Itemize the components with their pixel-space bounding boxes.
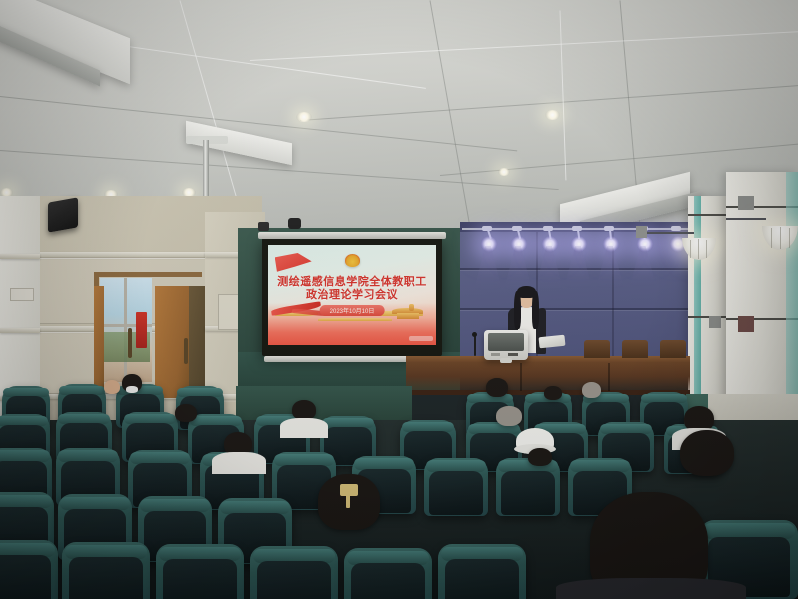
podium-monitor [484,330,528,360]
photo-scene: 测绘遥感信息学院全体教职工 政治理论学习会议 2023年10月10日 [0,0,798,599]
screen-roller-housing [258,232,446,239]
slide-watermark [409,336,433,341]
seated-attendee [486,378,508,397]
stage-desk-panel-seam [608,363,610,391]
slide-title-line2: 政治理论学习会议 [268,289,436,302]
hair-clip-pin [346,494,350,508]
seated-attendee [175,404,197,422]
slide-emblem-icon [345,254,360,267]
sconce-arm-bracket [636,226,647,238]
monitor-logo [508,353,518,356]
auditorium-seat[interactable] [156,544,244,599]
seated-attendee [292,400,316,420]
presenter-hair-right [532,291,539,329]
slide-date-badge: 2023年10月10日 [320,305,385,316]
monitor-button[interactable] [491,353,500,356]
auditorium-seat[interactable] [0,540,58,599]
presentation-slide: 测绘遥感信息学院全体教职工 政治理论学习会议 2023年10月10日 [268,245,436,345]
auditorium-seat[interactable] [496,458,560,516]
seated-attendee [680,430,734,476]
slide-flag-graphic [275,253,312,275]
sconce-arm [646,232,694,234]
sconce-arm-right [726,218,766,220]
door-handle[interactable] [128,328,132,358]
auditorium-seat[interactable] [344,548,432,599]
projection-screen: 测绘遥感信息学院全体教职工 政治理论学习会议 2023年10月10日 [262,238,442,356]
auditorium-seat[interactable] [424,458,488,516]
seated-attendee [104,380,120,394]
auditorium-seat[interactable] [438,544,526,599]
stage-desk-panel-seam [520,363,522,391]
door-handle-secondary[interactable] [184,338,188,364]
microphone-head [472,332,477,337]
seated-attendee [544,386,562,400]
ceiling-camera [258,222,269,231]
attendee-shoulders [212,452,266,474]
podium-microphone [474,336,476,356]
ceiling-camera-secondary [288,218,301,229]
monitor-stand [500,358,512,363]
attendee-shoulders-foreground [556,578,746,599]
stage-chair [660,340,686,358]
pillar-plate [709,316,721,328]
pillar-accent-square [738,196,754,210]
attendee-shoulders [280,418,328,438]
stage-chair [622,340,648,358]
pillar-accent-square-brown [738,316,754,332]
auditorium-seat[interactable] [250,546,338,599]
wall-notice-plate [10,288,34,301]
ceiling-downlight [498,168,510,176]
presenter-hair-left [514,291,521,329]
wall-loudspeaker [48,197,78,232]
seated-attendee [582,382,601,398]
red-wall-banner [136,312,147,348]
seated-attendee [528,448,552,466]
stage-chair [584,340,610,358]
ceiling-downlight [296,112,312,122]
door-leaf-open[interactable] [94,286,104,398]
attendee-mask [126,386,138,393]
seated-attendee [496,406,522,426]
auditorium-seat[interactable] [62,542,150,599]
ceiling-downlight [545,110,560,120]
slide-title-line1: 测绘遥感信息学院全体教职工 [268,276,436,289]
door-frame-top [94,272,202,277]
